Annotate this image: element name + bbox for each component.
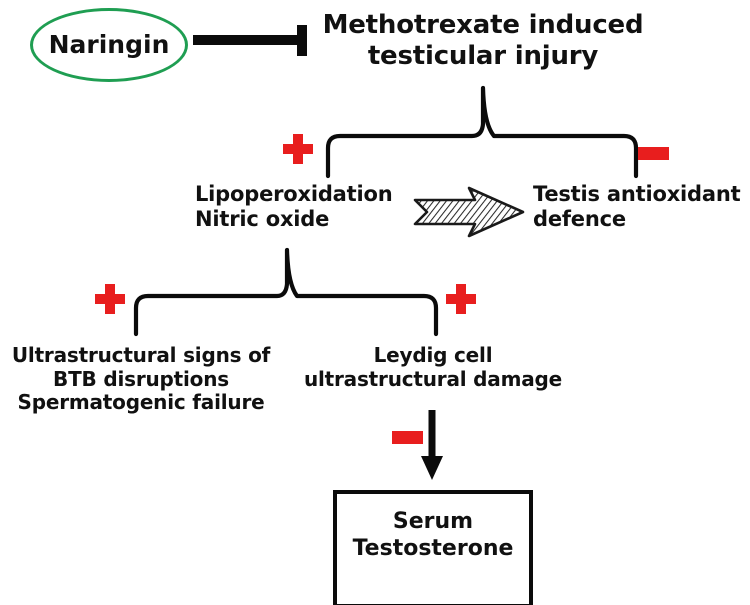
inhibition-tbar-cap-icon — [297, 25, 307, 56]
hatched-right-arrow-icon — [413, 186, 525, 238]
node-leydig-label: Leydig cell ultrastructural damage — [300, 344, 566, 391]
status-badge-minus-antioxidant — [638, 147, 669, 160]
node-btb-label: Ultrastructural signs of BTB disruptions… — [0, 344, 284, 415]
node-testosterone-label: Serum Testosterone — [333, 508, 533, 563]
node-antioxidant-label: Testis antioxidant defence — [533, 182, 750, 232]
diagram-canvas: Naringin Methotrexate induced testicular… — [0, 0, 750, 605]
status-badge-plus-leydig — [446, 284, 476, 314]
node-injury-label: Methotrexate induced testicular injury — [318, 10, 648, 71]
status-badge-plus-oxidative — [283, 134, 313, 164]
inhibition-tbar-icon — [193, 35, 303, 45]
curly-brace-icon — [134, 248, 438, 336]
curly-brace-icon — [326, 86, 638, 178]
status-badge-plus-btb — [95, 284, 125, 314]
down-arrow-icon — [419, 410, 445, 482]
node-oxidative-label: Lipoperoxidation Nitric oxide — [195, 182, 425, 232]
node-naringin-label: Naringin — [30, 30, 188, 59]
